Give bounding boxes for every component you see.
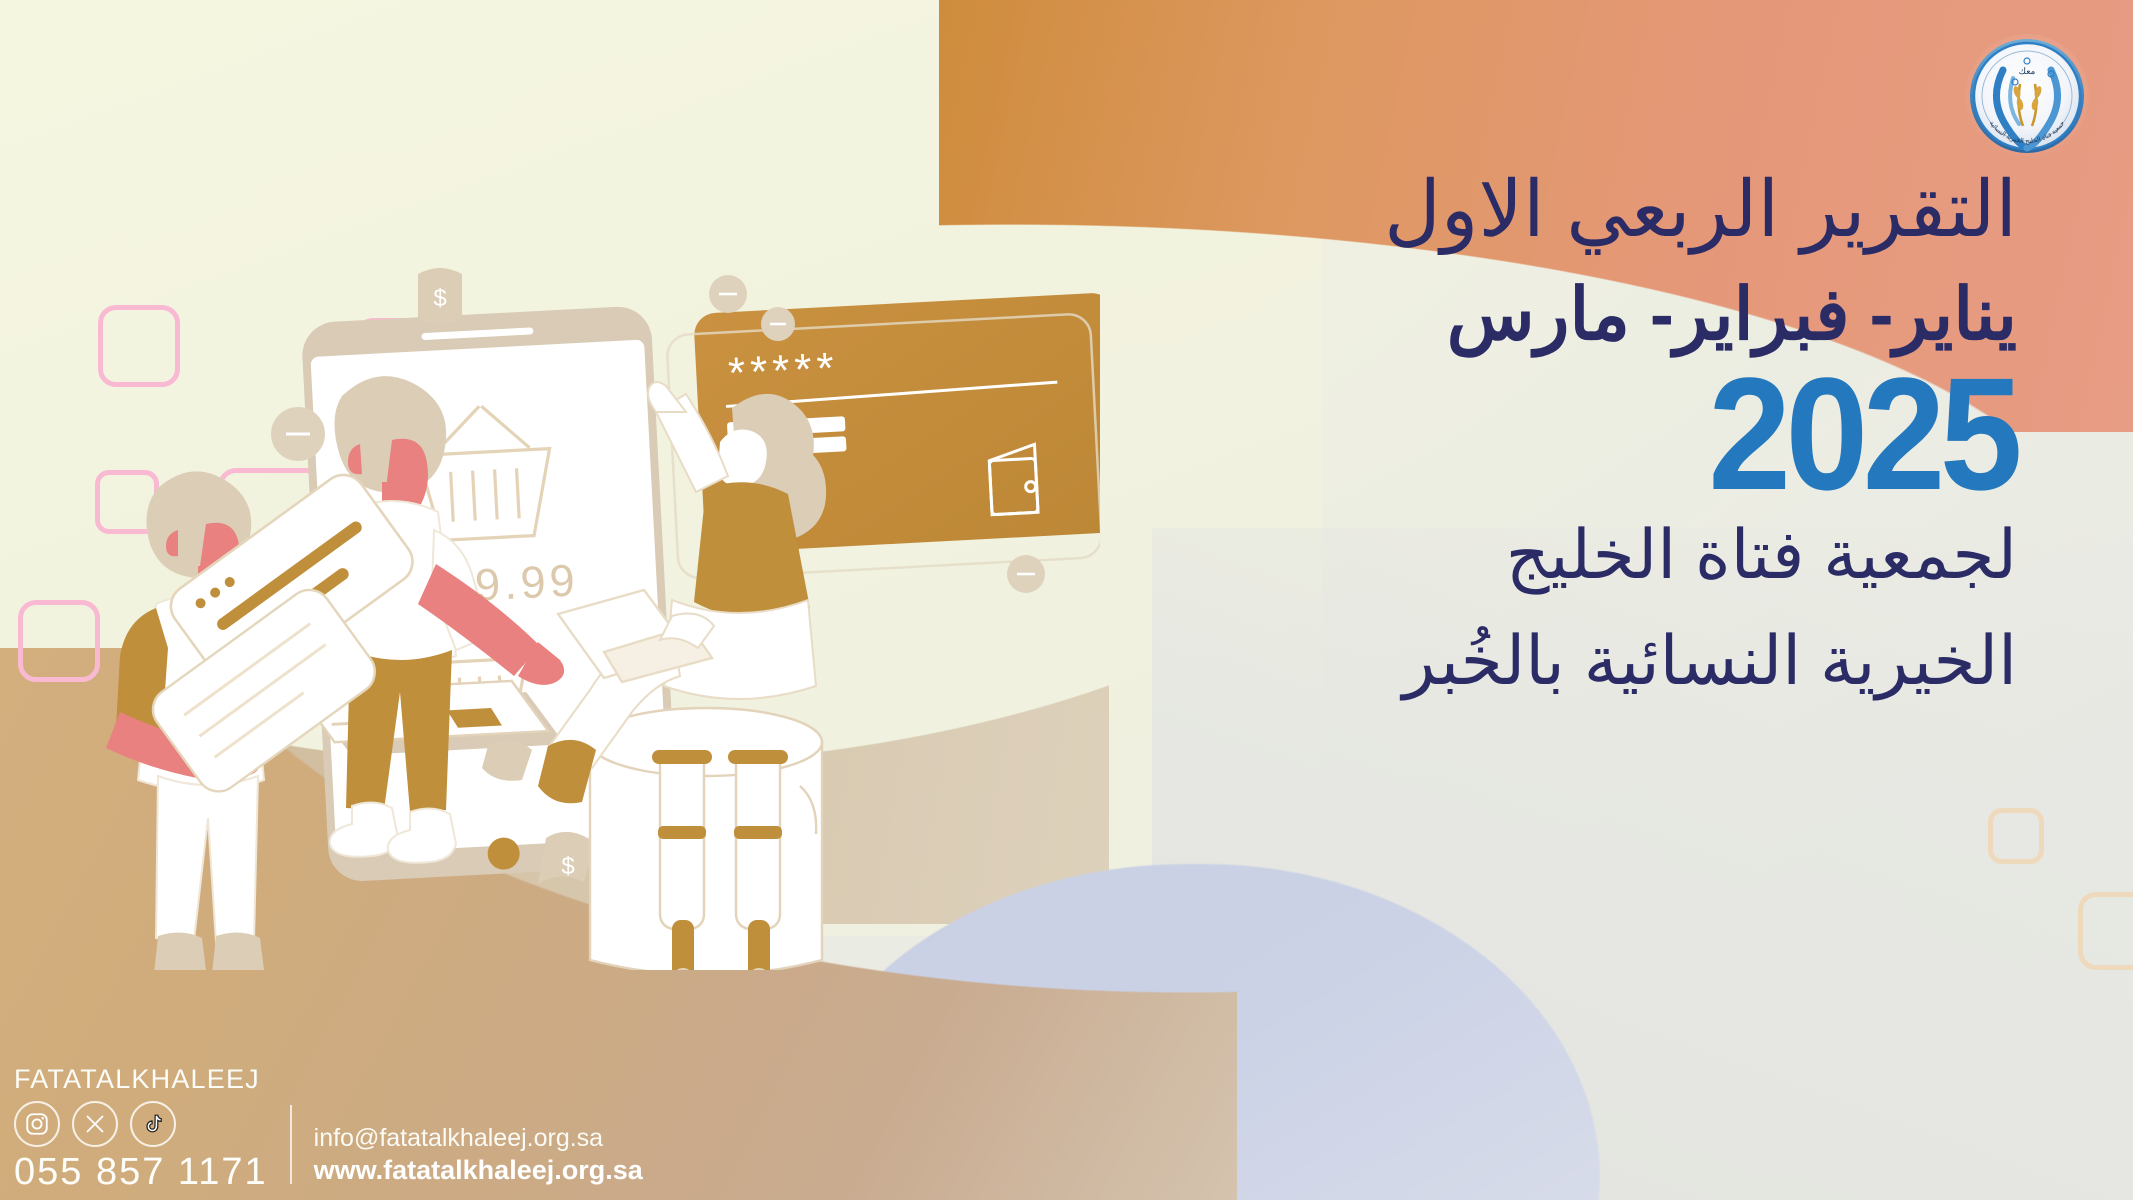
online-shopping-illustration: ***** $ 99.99 bbox=[60, 230, 1100, 970]
instagram-icon[interactable] bbox=[14, 1101, 60, 1147]
minus-badge bbox=[709, 275, 747, 313]
social-handle: FATATALKHALEEJ bbox=[10, 1064, 643, 1095]
cylinder-pedestal bbox=[590, 708, 822, 970]
svg-text:*****: ***** bbox=[727, 344, 840, 399]
svg-text:$: $ bbox=[561, 853, 574, 880]
organization-name-1: لجمعية فتاة الخليج bbox=[1017, 517, 2017, 593]
footer-divider bbox=[290, 1105, 292, 1184]
report-title: التقرير الربعي الاول bbox=[1017, 168, 2017, 251]
website-url[interactable]: www.fatatalkhaleej.org.sa bbox=[314, 1155, 643, 1186]
email-address[interactable]: info@fatatalkhaleej.org.sa bbox=[314, 1124, 643, 1153]
banknote-icon: $ bbox=[538, 832, 594, 884]
x-icon[interactable] bbox=[72, 1101, 118, 1147]
minus-badge bbox=[761, 307, 795, 341]
svg-text:$: $ bbox=[433, 285, 446, 312]
phone-number[interactable]: 055 857 1171 bbox=[10, 1151, 268, 1194]
organization-logo: معك جمعية فتاة الخليج الخيرية النسائية bbox=[1965, 34, 2089, 158]
decor-square-beige bbox=[1988, 808, 2044, 864]
banknote-icon: $ bbox=[418, 268, 462, 324]
report-year: 2025 bbox=[1087, 357, 2017, 511]
report-months: يناير- فبراير- مارس bbox=[1017, 277, 2017, 353]
footer-contact-bar: FATATALKHALEEJ bbox=[10, 1064, 643, 1194]
logo-center-text: معك bbox=[2019, 66, 2036, 76]
minus-badge bbox=[271, 407, 325, 461]
poster-canvas: ***** $ 99.99 bbox=[0, 0, 2133, 1200]
tiktok-icon[interactable] bbox=[130, 1101, 176, 1147]
headline-block: التقرير الربعي الاول يناير- فبراير- مارس… bbox=[1017, 168, 2017, 699]
decor-square-beige bbox=[2078, 892, 2133, 970]
organization-name-2: الخيرية النسائية بالخُبر bbox=[1017, 623, 2017, 699]
